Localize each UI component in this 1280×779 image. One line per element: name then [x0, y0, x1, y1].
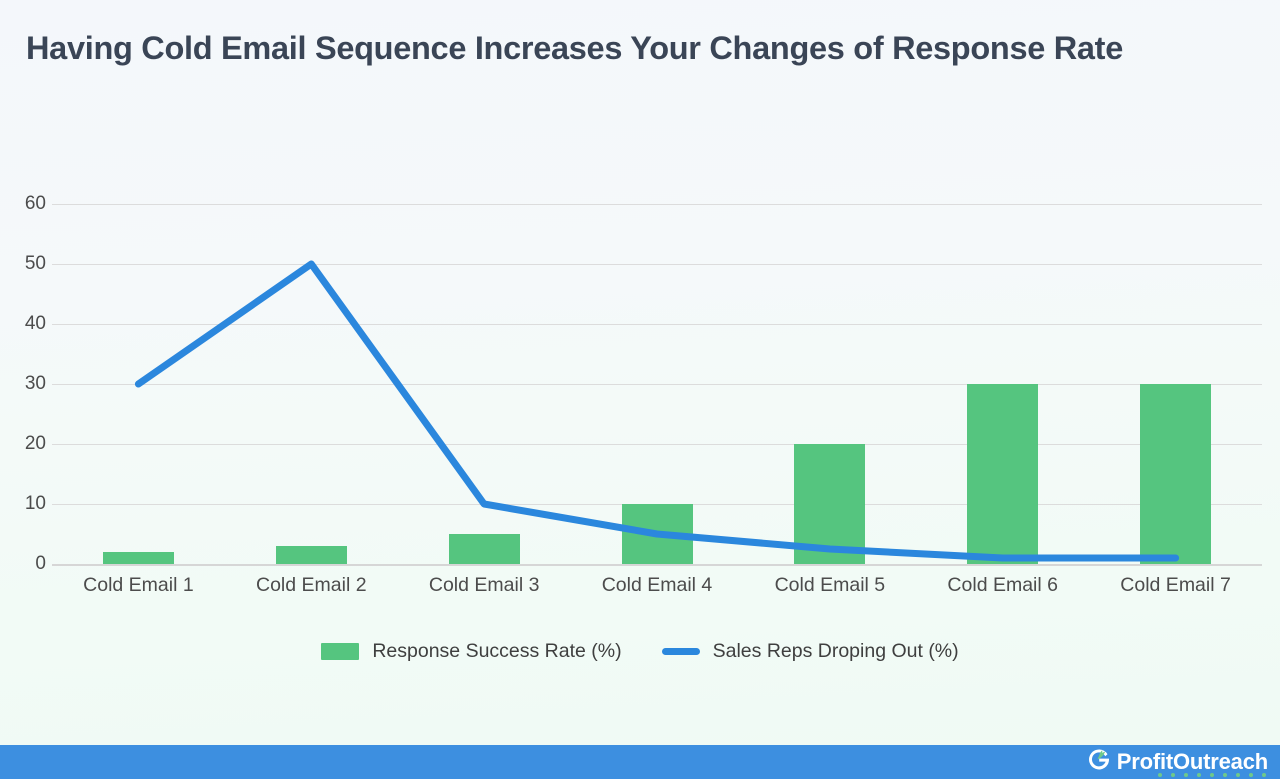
legend-item-response-success-rate[interactable]: Response Success Rate (%) [321, 640, 621, 663]
bar[interactable] [276, 546, 347, 564]
gridline [52, 264, 1262, 265]
bar[interactable] [103, 552, 174, 564]
x-axis-label: Cold Email 6 [947, 574, 1058, 597]
x-axis-label: Cold Email 7 [1120, 574, 1231, 597]
y-axis-tick-label: 30 [2, 373, 46, 395]
gridline [52, 324, 1262, 325]
brand-dot [1171, 773, 1175, 777]
gridline [52, 444, 1262, 445]
x-axis-label: Cold Email 3 [429, 574, 540, 597]
y-axis-tick-label: 50 [2, 253, 46, 275]
line-swatch-icon [662, 648, 700, 655]
bar-swatch-icon [321, 643, 359, 660]
brand-dot [1210, 773, 1214, 777]
bar[interactable] [1140, 384, 1211, 564]
gridline [52, 384, 1262, 385]
y-axis-tick-label: 40 [2, 313, 46, 335]
x-axis-label: Cold Email 1 [83, 574, 194, 597]
x-axis-baseline [52, 564, 1262, 566]
x-axis-label: Cold Email 2 [256, 574, 367, 597]
brand-banner: ProfitOutreach [0, 745, 1280, 779]
profitoutreach-leaf-icon [1086, 747, 1112, 778]
bar[interactable] [449, 534, 520, 564]
gridline [52, 204, 1262, 205]
y-axis-tick-label: 20 [2, 433, 46, 455]
bar[interactable] [622, 504, 693, 564]
legend-item-sales-reps-droping-out[interactable]: Sales Reps Droping Out (%) [662, 640, 959, 663]
brand-dot [1223, 773, 1227, 777]
x-axis-label: Cold Email 4 [602, 574, 713, 597]
legend-label-sales-reps-droping-out: Sales Reps Droping Out (%) [713, 640, 959, 663]
y-axis-tick-label: 0 [2, 553, 46, 575]
brand-dots-decoration [1158, 773, 1266, 777]
x-axis-label: Cold Email 5 [775, 574, 886, 597]
brand-dot [1158, 773, 1162, 777]
bar[interactable] [967, 384, 1038, 564]
brand-dot [1262, 773, 1266, 777]
legend-label-response-success-rate: Response Success Rate (%) [372, 640, 621, 663]
brand-name: ProfitOutreach [1117, 751, 1268, 773]
chart-legend: Response Success Rate (%) Sales Reps Dro… [0, 640, 1280, 663]
brand-dot [1249, 773, 1253, 777]
bar[interactable] [794, 444, 865, 564]
brand-dot [1236, 773, 1240, 777]
y-axis-tick-label: 10 [2, 493, 46, 515]
brand-dot [1197, 773, 1201, 777]
y-axis-tick-label: 60 [2, 193, 46, 215]
brand-dot [1184, 773, 1188, 777]
